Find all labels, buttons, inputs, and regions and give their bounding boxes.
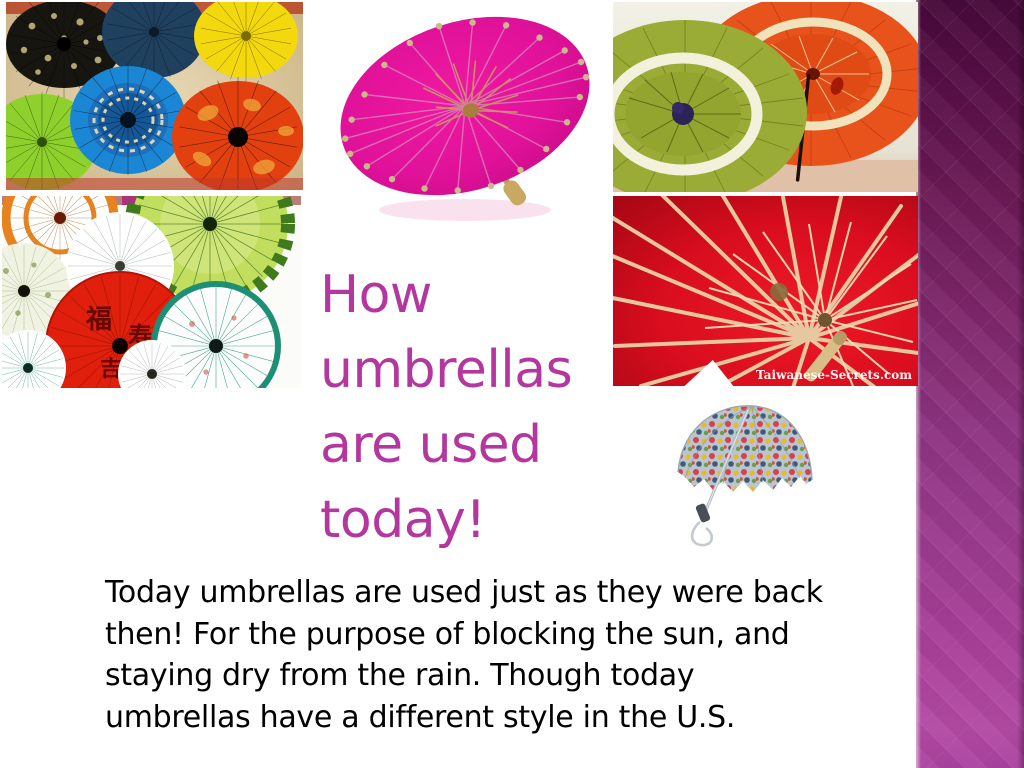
image-chinese-calligraphy-parasols: 福 寿 吉 福 — [2, 196, 301, 388]
diamond-texture-overlay — [916, 0, 1024, 768]
presentation-slide: 福 寿 吉 福 — [0, 0, 1024, 768]
image-pink-parasol-product-shot — [325, 2, 595, 242]
svg-text:福: 福 — [85, 305, 112, 335]
purple-gradient-sidebar — [916, 0, 1024, 768]
sidebar-right-shadow — [1017, 0, 1024, 768]
body-paragraph: Today umbrellas are used just as they we… — [105, 572, 835, 738]
image-parasols-overhead-collage — [6, 2, 303, 190]
image-wagasa-pair-green-orange — [613, 2, 918, 192]
page-title: How umbrellas are used today! — [320, 258, 610, 558]
svg-text:Taiwanese-Secrets.com: Taiwanese-Secrets.com — [756, 368, 912, 382]
image-red-parasol-underside: Taiwanese-Secrets.com Taiwanese-Secrets.… — [613, 196, 918, 386]
image-floral-folding-umbrella — [660, 388, 830, 553]
